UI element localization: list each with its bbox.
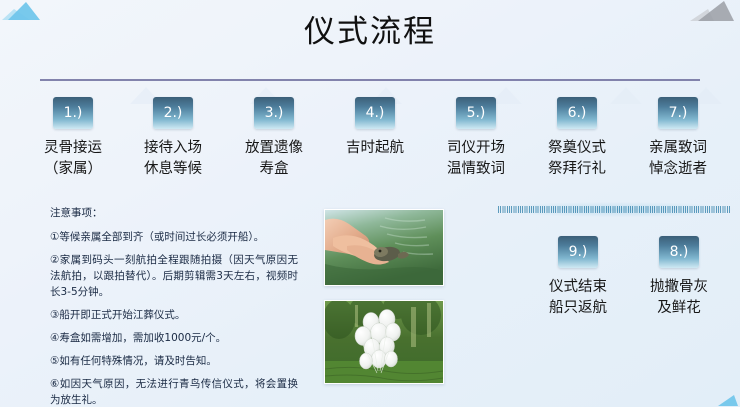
step-5[interactable]: 5.) 司仪开场 温情致词	[428, 97, 524, 180]
note-item: ③船开即正式开始江葬仪式。	[50, 307, 298, 323]
step-9[interactable]: 9.) 仪式结束 船只返航	[530, 236, 626, 319]
step-8-badge: 8.)	[659, 236, 699, 268]
step-5-label: 司仪开场 温情致词	[428, 138, 524, 180]
note-item: ①等候亲属全部到齐（或时间过长必须开船）。	[50, 229, 298, 245]
slide-canvas: 仪式流程 1.) 灵骨接运 （家属） 2.) 接待入场 休息等候 3.) 放置遗…	[0, 0, 740, 407]
step-4-label: 吉时起航	[327, 138, 423, 159]
step-7-badge: 7.)	[658, 97, 698, 129]
step-9-badge: 9.)	[558, 236, 598, 268]
step-3-label: 放置遗像 寿盒	[226, 138, 322, 180]
step-4-badge: 4.)	[355, 97, 395, 129]
step-2-label: 接待入场 休息等候	[125, 138, 221, 180]
step-3-badge: 3.)	[254, 97, 294, 129]
step-2-badge: 2.)	[153, 97, 193, 129]
step-1[interactable]: 1.) 灵骨接运 （家属）	[25, 97, 121, 180]
step-2[interactable]: 2.) 接待入场 休息等候	[125, 97, 221, 180]
step-9-label: 仪式结束 船只返航	[530, 277, 626, 319]
step-7[interactable]: 7.) 亲属致词 悼念逝者	[630, 97, 726, 180]
photo-balloons	[324, 300, 444, 384]
title-divider	[40, 79, 700, 81]
note-item: ⑥如因天气原因，无法进行青鸟传信仪式，将会置换为放生礼。	[50, 376, 298, 407]
note-item: ⑤如有任何特殊情况，请及时告知。	[50, 353, 298, 369]
step-7-label: 亲属致词 悼念逝者	[630, 138, 726, 180]
step-1-badge: 1.)	[53, 97, 93, 129]
photo-release	[324, 209, 444, 286]
step-5-badge: 5.)	[456, 97, 496, 129]
step-8[interactable]: 8.) 抛撒骨灰 及鲜花	[631, 236, 727, 319]
step-4[interactable]: 4.) 吉时起航	[327, 97, 423, 159]
notes-panel: 注意事项： ①等候亲属全部到齐（或时间过长必须开船）。 ②家属到码头一刻航拍全程…	[50, 205, 298, 407]
page-title: 仪式流程	[0, 12, 740, 52]
notes-heading: 注意事项：	[50, 205, 298, 221]
step-6-badge: 6.)	[557, 97, 597, 129]
step-1-label: 灵骨接运 （家属）	[25, 138, 121, 180]
step-6[interactable]: 6.) 祭奠仪式 祭拜行礼	[529, 97, 625, 180]
step-6-label: 祭奠仪式 祭拜行礼	[529, 138, 625, 180]
step-3[interactable]: 3.) 放置遗像 寿盒	[226, 97, 322, 180]
note-item: ②家属到码头一刻航拍全程跟随拍摄（因天气原因无法航拍，以跟拍替代）。后期剪辑需3…	[50, 252, 298, 300]
note-item: ④寿盒如需增加，需加收1000元/个。	[50, 330, 298, 346]
step-8-label: 抛撒骨灰 及鲜花	[631, 277, 727, 319]
dotted-divider	[498, 206, 730, 213]
triangle-accent-icon	[718, 395, 738, 406]
